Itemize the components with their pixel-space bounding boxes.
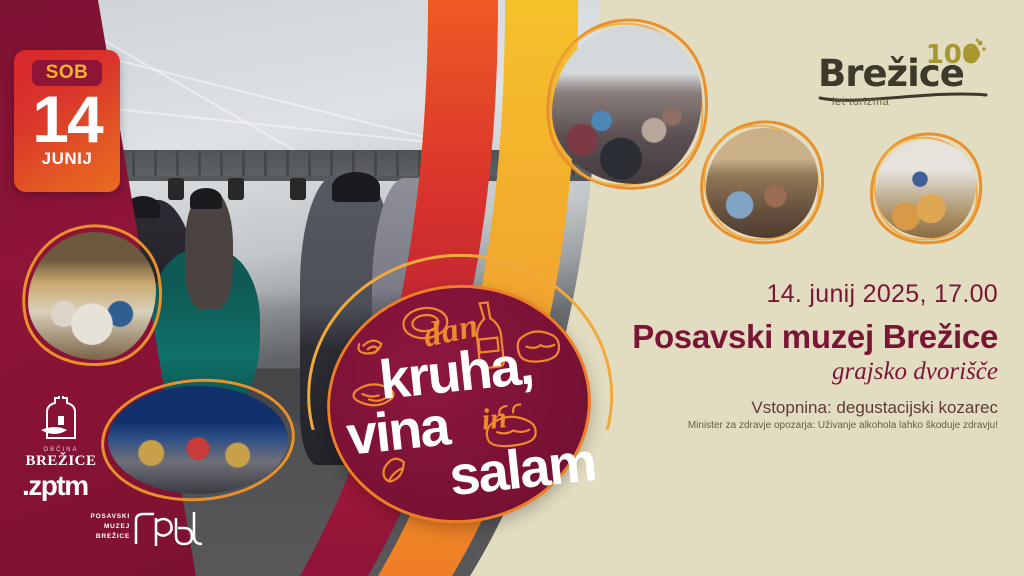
sponsor-logo-zptm: .zptm <box>22 470 88 502</box>
health-warning: Minister za zdravje opozarja: Uživanje a… <box>688 420 998 431</box>
sponsor-logo-museum: POSAVSKI MUZEJ BREŽICE <box>72 508 212 550</box>
event-price: Vstopnina: degustacijski kozarec <box>751 398 998 418</box>
photo-blob-wine-stand <box>28 232 156 360</box>
municipality-name: BREŽICE <box>22 453 100 470</box>
brand-tagline: let turizma <box>832 96 889 108</box>
castle-tower-icon <box>35 396 87 440</box>
museum-line-2: MUZEJ <box>72 522 130 532</box>
museum-line-3: BREŽICE <box>72 532 130 542</box>
sponsor-logo-municipality: OBČINA BREŽICE <box>22 396 100 470</box>
museum-line-1: POSAVSKI <box>72 512 130 522</box>
badge-body: dan kruha, vina in salam <box>319 275 600 533</box>
event-title-badge: dan kruha, vina in salam <box>319 275 600 533</box>
stage-light-icon <box>168 178 184 200</box>
stage-light-icon <box>290 178 306 200</box>
photo-bread-baking <box>876 140 976 238</box>
badge-line-in: in <box>480 401 508 437</box>
stage-light-icon <box>228 178 244 200</box>
photo-blob-bread <box>876 140 976 238</box>
day-number: 14 <box>32 88 101 151</box>
museum-monogram-icon <box>132 508 208 548</box>
month-label: JUNIJ <box>42 149 93 169</box>
brand-dots-icon <box>952 38 986 64</box>
hat-icon <box>190 188 222 209</box>
photo-tasting-stand <box>706 128 818 238</box>
date-badge: SOB 14 JUNIJ <box>14 50 120 192</box>
museum-name-lines: POSAVSKI MUZEJ BREŽICE <box>72 512 130 542</box>
event-poster: SOB 14 JUNIJ <box>0 0 1024 576</box>
photo-awards-ceremony <box>108 386 288 494</box>
hat-icon <box>332 172 380 202</box>
photo-blob-tasting <box>706 128 818 238</box>
photo-blob-awards <box>108 386 288 494</box>
event-venue-detail: grajsko dvorišče <box>832 358 998 386</box>
event-venue: Posavski muzej Brežice <box>632 318 998 356</box>
brezice-brand-logo: Brežice 100 let turizma <box>818 38 988 112</box>
photo-blob-crowd <box>552 26 702 184</box>
event-datetime: 14. junij 2025, 17.00 <box>767 280 998 309</box>
photo-wine-stand <box>28 232 156 360</box>
